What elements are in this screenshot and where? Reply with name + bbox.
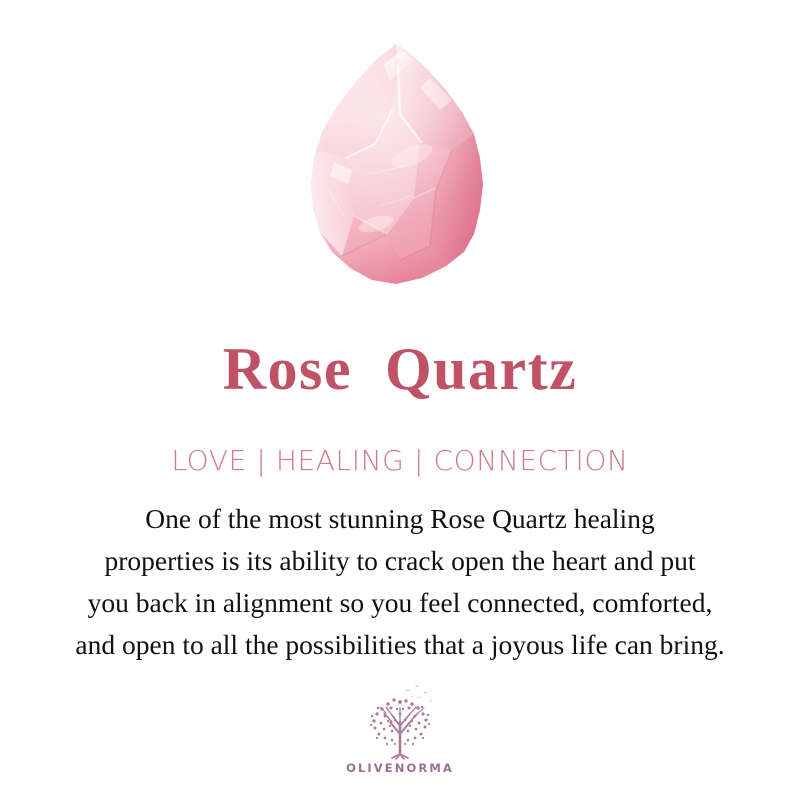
crystal-inner-glow [280, 38, 520, 294]
brand-name: OLIVENORMA [0, 761, 800, 775]
tree-branches [380, 707, 424, 759]
product-info-card: Rose Quartz LOVE | HEALING | CONNECTION … [0, 0, 800, 800]
product-image-container [0, 38, 800, 300]
brand-logo: OLIVENORMA [0, 682, 800, 775]
olivenorma-tree-logo-icon [359, 682, 441, 760]
product-keywords: LOVE | HEALING | CONNECTION [0, 444, 800, 478]
page-title: Rose Quartz [0, 336, 800, 402]
product-description: One of the most stunning Rose Quartz hea… [22, 498, 778, 666]
rose-quartz-crystal-image [280, 38, 520, 294]
flying-birds-icon [405, 686, 433, 701]
